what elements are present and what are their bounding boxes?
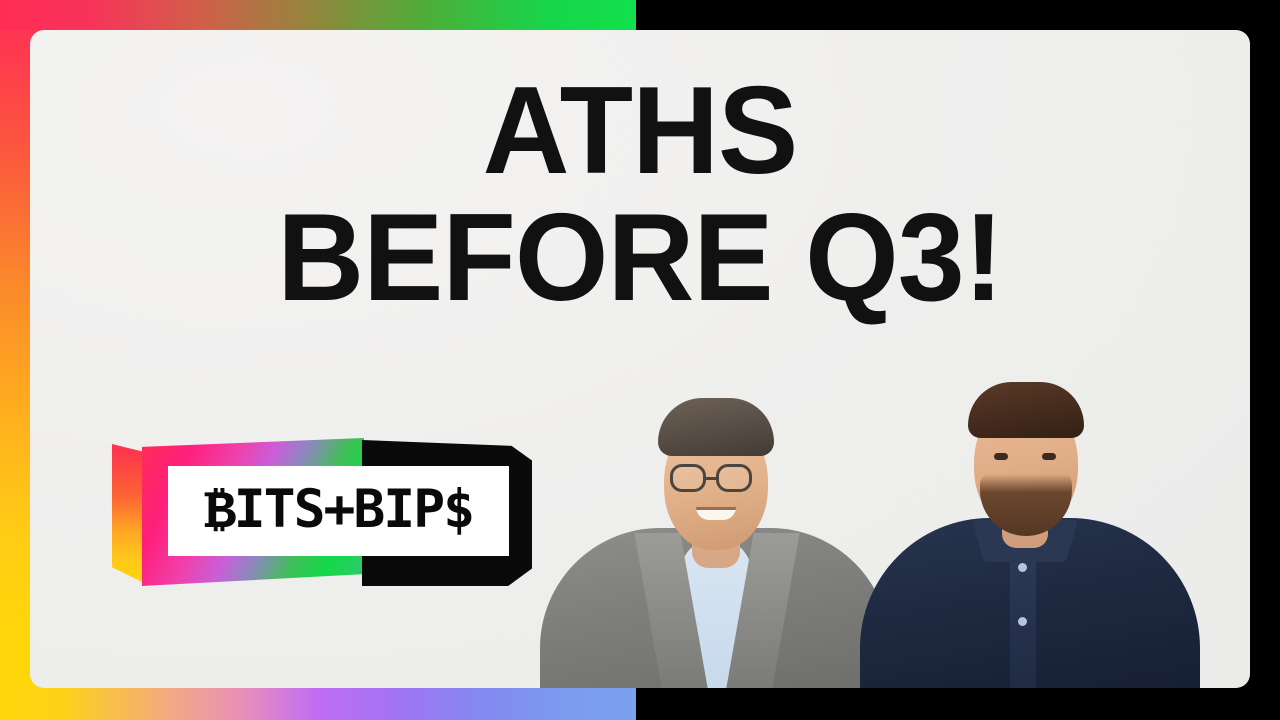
host-left	[540, 330, 890, 688]
host-right-hair	[968, 382, 1084, 438]
gradient-frame-bottom	[0, 688, 636, 720]
logo-text: ₿ITS+BIP$	[204, 479, 473, 543]
host-right-eye-left	[994, 453, 1008, 460]
host-left-glasses-lens-left	[670, 464, 706, 492]
host-photos	[530, 288, 1250, 688]
host-right	[860, 318, 1200, 688]
bits-plus-bips-logo: ₿ITS+BIP$	[112, 430, 542, 600]
host-right-eye-right	[1042, 453, 1056, 460]
thumbnail-canvas: ATHS BEFORE Q3! ₿ITS+BIP$	[0, 0, 1280, 720]
host-left-glasses-bridge	[706, 477, 718, 480]
logo-bevel-facet	[112, 444, 146, 584]
host-right-button-bottom	[1018, 617, 1027, 626]
host-left-hair	[658, 398, 774, 456]
host-right-button-top	[1018, 563, 1027, 572]
logo-plate: ₿ITS+BIP$	[168, 466, 509, 556]
gradient-frame-top	[0, 0, 636, 30]
host-left-glasses-lens-right	[716, 464, 752, 492]
headline-line-1: ATHS	[48, 72, 1231, 191]
content-panel: ATHS BEFORE Q3! ₿ITS+BIP$	[30, 30, 1250, 688]
headline: ATHS BEFORE Q3!	[30, 72, 1250, 318]
